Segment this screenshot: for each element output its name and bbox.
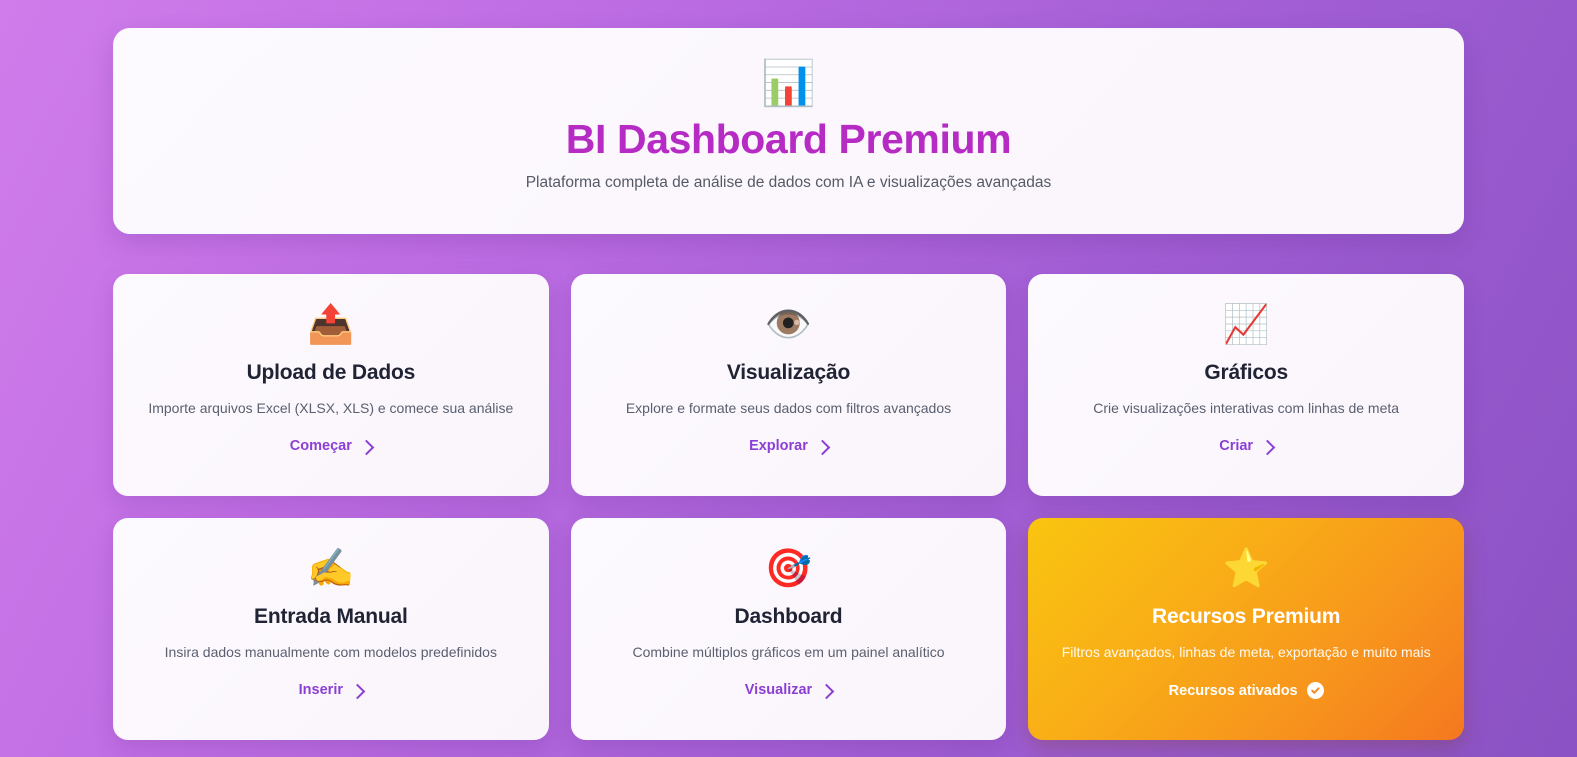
- bar-chart-emoji: 📊: [761, 58, 816, 110]
- hero-header-card: 📊 BI Dashboard Premium Plataforma comple…: [113, 28, 1464, 234]
- card-description: Crie visualizações interativas com linha…: [1079, 399, 1413, 417]
- check-circle-icon: [1307, 682, 1324, 699]
- direct-hit-emoji: 🎯: [765, 545, 812, 593]
- chevron-right-icon: [350, 683, 366, 699]
- card-title: Recursos Premium: [1152, 605, 1340, 629]
- app-root: 📊 BI Dashboard Premium Plataforma comple…: [0, 0, 1577, 757]
- page-title: BI Dashboard Premium: [566, 116, 1011, 163]
- card-action-comecar[interactable]: Começar: [290, 438, 372, 454]
- card-action-criar[interactable]: Criar: [1219, 438, 1273, 454]
- card-description: Importe arquivos Excel (XLSX, XLS) e com…: [134, 399, 527, 417]
- card-action-label: Criar: [1219, 438, 1253, 454]
- star-emoji: ⭐: [1222, 545, 1269, 593]
- card-title: Visualização: [727, 361, 850, 385]
- premium-status-badge: Recursos ativados: [1169, 682, 1324, 699]
- card-action-label: Visualizar: [745, 682, 812, 698]
- feature-card-recursos-premium: ⭐ Recursos Premium Filtros avançados, li…: [1028, 518, 1464, 740]
- feature-card-graficos[interactable]: 📈 Gráficos Crie visualizações interativa…: [1028, 274, 1464, 496]
- card-title: Dashboard: [735, 605, 843, 629]
- chart-increasing-emoji: 📈: [1222, 301, 1269, 349]
- feature-card-dashboard[interactable]: 🎯 Dashboard Combine múltiplos gráficos e…: [571, 518, 1007, 740]
- writing-hand-emoji: ✍️: [307, 545, 354, 593]
- chevron-right-icon: [1260, 439, 1276, 455]
- chevron-right-icon: [819, 683, 835, 699]
- card-description: Filtros avançados, linhas de meta, expor…: [1048, 643, 1445, 661]
- card-title: Gráficos: [1204, 361, 1288, 385]
- feature-card-visualizacao[interactable]: 👁️ Visualização Explore e formate seus d…: [571, 274, 1007, 496]
- premium-status-label: Recursos ativados: [1169, 683, 1298, 699]
- page-subtitle: Plataforma completa de análise de dados …: [526, 174, 1052, 192]
- card-action-label: Explorar: [749, 438, 808, 454]
- card-description: Insira dados manualmente com modelos pre…: [151, 643, 511, 661]
- outbox-tray-emoji: 📤: [307, 301, 354, 349]
- card-action-visualizar[interactable]: Visualizar: [745, 682, 832, 698]
- card-action-explorar[interactable]: Explorar: [749, 438, 828, 454]
- eye-emoji: 👁️: [765, 301, 812, 349]
- card-description: Combine múltiplos gráficos em um painel …: [618, 643, 958, 661]
- card-title: Upload de Dados: [247, 361, 416, 385]
- card-action-label: Começar: [290, 438, 352, 454]
- card-action-label: Inserir: [299, 682, 343, 698]
- chevron-right-icon: [815, 439, 831, 455]
- card-action-inserir[interactable]: Inserir: [299, 682, 363, 698]
- card-description: Explore e formate seus dados com filtros…: [612, 399, 965, 417]
- feature-card-entrada-manual[interactable]: ✍️ Entrada Manual Insira dados manualmen…: [113, 518, 549, 740]
- feature-card-grid: 📤 Upload de Dados Importe arquivos Excel…: [113, 274, 1464, 740]
- card-title: Entrada Manual: [254, 605, 408, 629]
- chevron-right-icon: [359, 439, 375, 455]
- feature-card-upload-de-dados[interactable]: 📤 Upload de Dados Importe arquivos Excel…: [113, 274, 549, 496]
